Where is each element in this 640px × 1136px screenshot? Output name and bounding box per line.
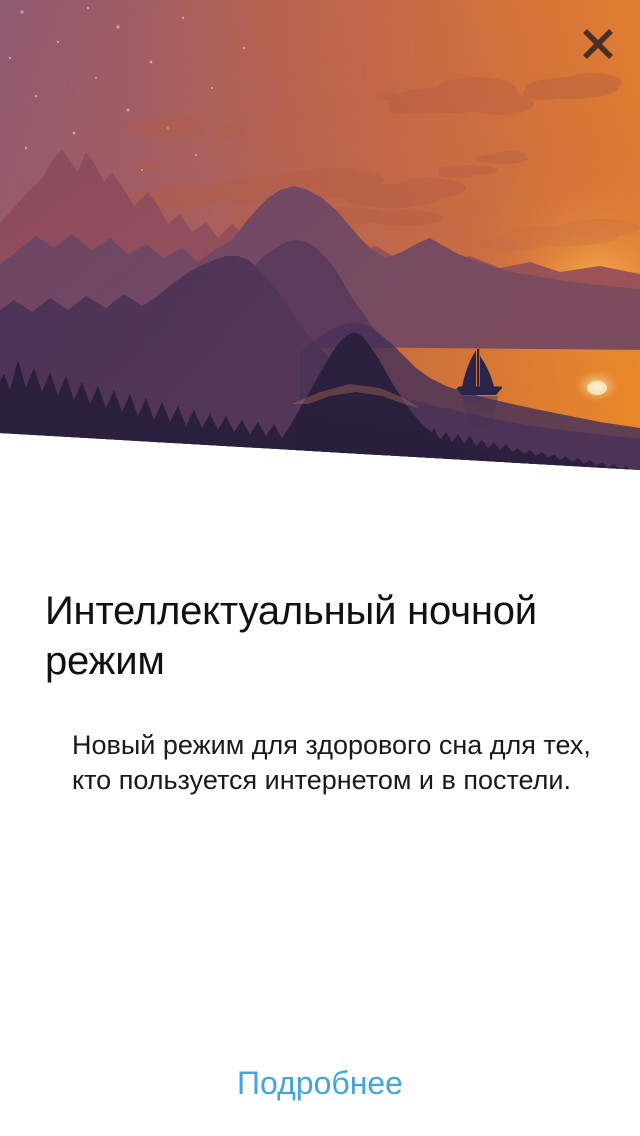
close-button[interactable] xyxy=(570,16,626,72)
page-description: Новый режим для здорового сна для тех, к… xyxy=(72,728,592,798)
learn-more-link[interactable]: Подробнее xyxy=(0,1062,640,1104)
hero-illustration xyxy=(0,0,640,480)
sunset-scene-svg xyxy=(0,0,640,480)
page-title: Интеллектуальный ночной режим xyxy=(45,586,605,686)
onboarding-screen: Интеллектуальный ночной режим Новый режи… xyxy=(0,0,640,1136)
close-icon xyxy=(581,27,615,61)
